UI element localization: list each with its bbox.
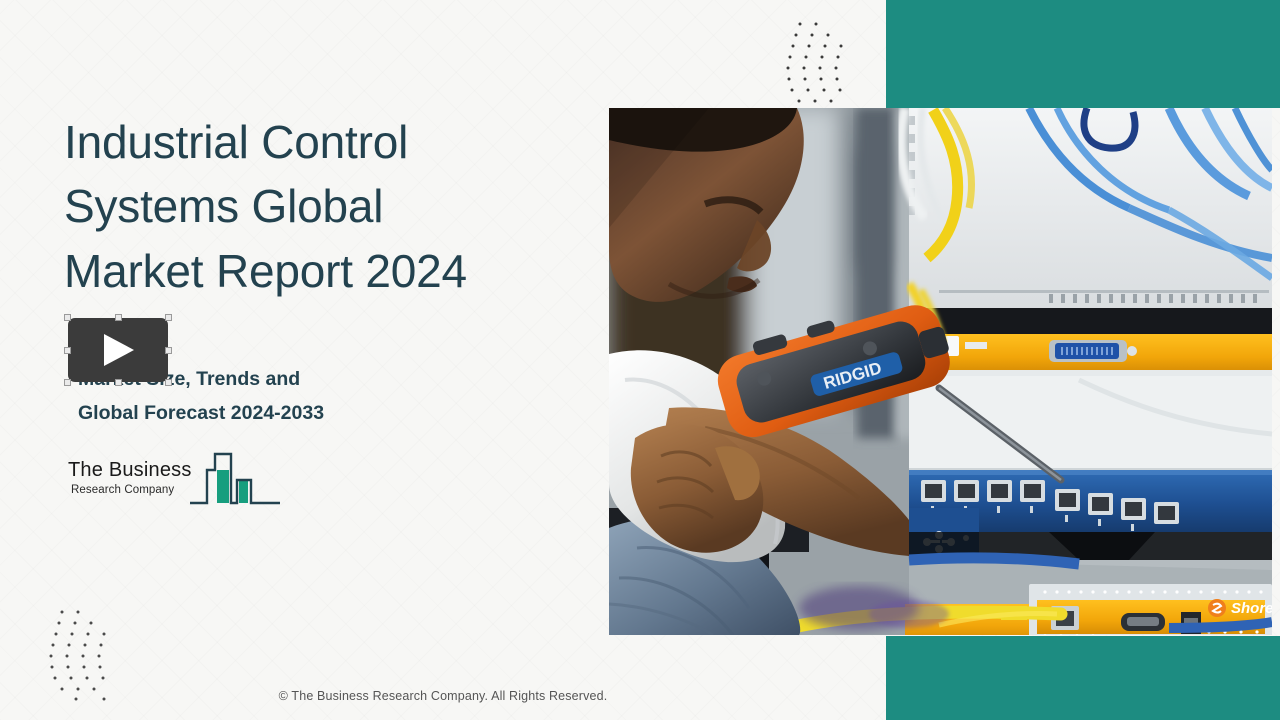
hero-photo: ShoreTel <box>609 108 1272 635</box>
play-video-button[interactable] <box>68 318 168 382</box>
teal-accent-block-bottom <box>886 636 1280 720</box>
decorative-dot-grid-bottom-left <box>48 606 140 702</box>
selection-handle-top-left[interactable] <box>64 314 71 321</box>
slide-title: Industrial Control Systems Global Market… <box>64 110 584 303</box>
company-logo[interactable]: The Business Research Company <box>68 452 280 512</box>
selection-handle-bottom-left[interactable] <box>64 379 71 386</box>
selection-handle-top-center[interactable] <box>115 314 122 321</box>
selection-handle-middle-left[interactable] <box>64 347 71 354</box>
selection-handle-middle-right[interactable] <box>165 347 172 354</box>
hero-photo-illustration: ShoreTel <box>609 108 1272 635</box>
presentation-slide: Industrial Control Systems Global Market… <box>0 0 1280 720</box>
selection-handle-bottom-right[interactable] <box>165 379 172 386</box>
play-icon <box>104 334 134 366</box>
decorative-dot-grid-top-right <box>786 18 878 114</box>
logo-company-name: The Business <box>68 460 192 480</box>
logo-company-tagline: Research Company <box>68 485 192 497</box>
logo-bar-chart-icon <box>190 452 280 515</box>
copyright-footer: © The Business Research Company. All Rig… <box>0 689 886 703</box>
selection-handle-top-right[interactable] <box>165 314 172 321</box>
logo-text-block: The Business Research Company <box>68 460 192 497</box>
shoretel-label: ShoreTel <box>1231 600 1272 617</box>
selection-handle-bottom-center[interactable] <box>115 379 122 386</box>
teal-accent-block-top <box>886 0 1280 108</box>
